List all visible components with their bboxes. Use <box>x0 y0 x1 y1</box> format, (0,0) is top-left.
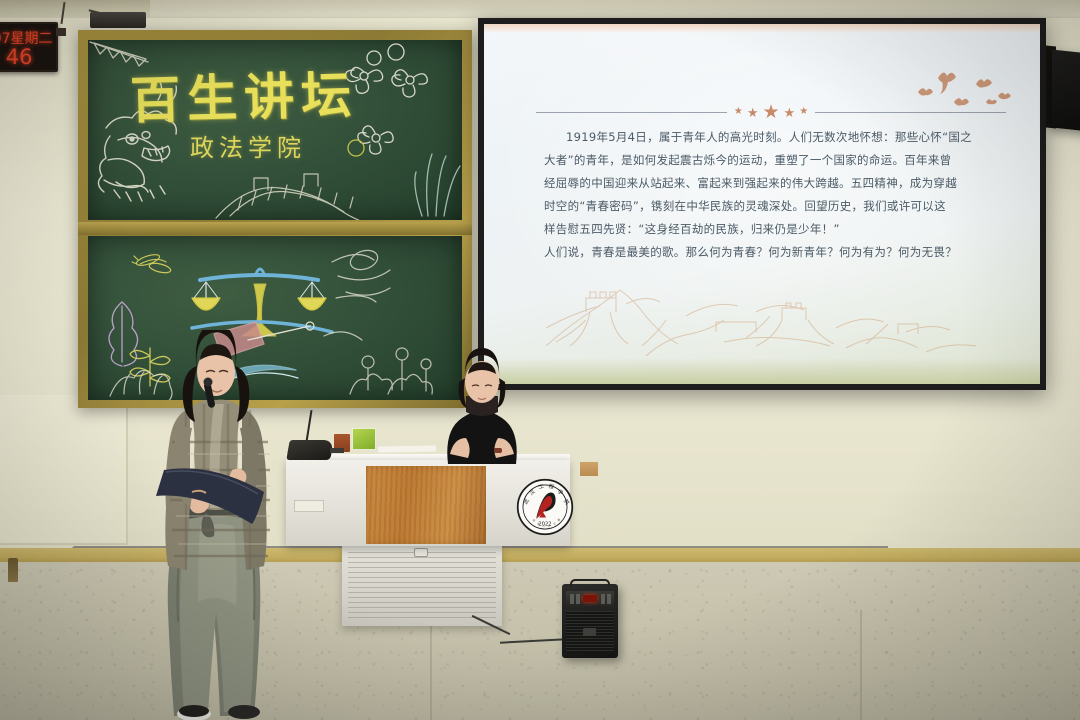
podium-wood-panel <box>366 466 486 544</box>
university-emblem: 2022 武 汉 工 程 学 院 笃 学 力 行 立 德 <box>516 478 574 536</box>
amplifier-knob-4[interactable] <box>607 594 611 604</box>
amplifier-knob-3[interactable] <box>601 594 605 604</box>
slide-bottom-gradient <box>484 358 1040 384</box>
classroom-scene: /07星期二 : 46 <box>0 0 1080 720</box>
seated-operator <box>432 348 532 464</box>
leaf-chalk-icon <box>109 302 138 366</box>
amplifier-led-display <box>583 595 597 602</box>
slide-line-1: 1919年5月4日，属于青年人的高光时刻。人们无数次地怀想：那些心怀“国之 <box>544 126 1000 149</box>
star-icon-1: ★ <box>734 107 743 117</box>
star-icon-5: ★ <box>799 107 808 117</box>
star-icon-3: ★ <box>762 103 779 122</box>
blackboard-subtitle: 政法学院 <box>190 128 306 163</box>
blackboard-upper-panel: 百生讲坛 政法学院 <box>88 40 462 220</box>
slide-text-block: 1919年5月4日，属于青年人的高光时刻。人们无数次地怀想：那些心怀“国之 大者… <box>544 126 1000 264</box>
dragonfly-chalk-icon <box>132 252 172 274</box>
small-device <box>330 448 344 453</box>
wall-mounted-speaker <box>1052 50 1080 133</box>
clock-mount-bracket <box>56 28 66 36</box>
slide-line-3: 经屈辱的中国迎来从站起来、富起来到强起来的伟大跨越。五四精神，成为穿越 <box>544 172 1000 195</box>
great-wall-illustration-icon <box>546 276 976 362</box>
projection-screen-frame: ★ ★ ★ ★ ★ 1919年5月4日，属于青年人的高光时刻。人们无数次地怀想：… <box>478 18 1046 390</box>
divider-line-right <box>815 112 1006 113</box>
amplifier-knob-1[interactable] <box>570 594 574 604</box>
slide-line-2: 大者”的青年，是如何发起震古烁今的运动，重塑了一个国家的命运。百年来曾 <box>544 149 1000 172</box>
amplifier-handle <box>570 579 610 586</box>
led-wall-clock: /07星期二 : 46 <box>0 22 58 72</box>
amplifier-logo <box>583 628 596 636</box>
green-package <box>352 428 376 450</box>
slide-line-5: 样告慰五四先贤：“这身经百劫的民族，归来仍是少年！” <box>544 218 1000 241</box>
wall-panel-right <box>600 400 1080 540</box>
slide-line-6: 人们说，青春是最美的歌。那么何为青春？何为新青年？何为有为？何为无畏？ <box>544 241 1000 264</box>
decorative-swirls <box>324 247 390 340</box>
podium-vent-lines <box>348 552 496 620</box>
slide-top-edge <box>484 24 1040 32</box>
portable-pa-speaker <box>562 584 618 658</box>
lectern-podium: 2022 武 汉 工 程 学 院 笃 学 力 行 立 德 <box>286 448 584 556</box>
blackboard-title: 百生讲坛 <box>129 55 359 133</box>
slide-divider: ★ ★ ★ ★ ★ <box>536 102 1006 122</box>
blackboard-middle-rail <box>78 222 472 235</box>
great-wall-chalk-icon <box>216 174 404 220</box>
slide-line-4: 时空的“青春密码”，镌刻在中华民族的灵魂深处。回望历史，我们或许可以这 <box>544 195 1000 218</box>
podium-lock-icon <box>414 548 428 557</box>
five-stars-ornament: ★ ★ ★ ★ ★ <box>734 103 808 122</box>
floor-seam-2 <box>860 610 862 720</box>
floor-seam-1 <box>430 610 432 720</box>
bottle-on-floor <box>8 558 18 582</box>
podium-sticker-label <box>294 500 324 512</box>
papers-on-desk <box>378 445 436 452</box>
wireless-mic-base <box>286 440 334 460</box>
amplifier-knob-2[interactable] <box>576 594 580 604</box>
ceiling-projector-housing <box>90 12 146 28</box>
projected-slide: ★ ★ ★ ★ ★ 1919年5月4日，属于青年人的高光时刻。人们无数次地怀想：… <box>484 24 1040 384</box>
podium-right-block <box>580 462 598 476</box>
star-icon-2: ★ <box>747 106 759 119</box>
standing-presenter <box>146 330 286 720</box>
wall-panel-left <box>0 395 128 545</box>
led-clock-time: : 46 <box>0 45 32 69</box>
scales-of-justice-icon <box>192 269 332 336</box>
divider-line-left <box>536 112 727 113</box>
star-icon-4: ★ <box>784 106 796 119</box>
grass-chalk-icon <box>415 154 460 216</box>
